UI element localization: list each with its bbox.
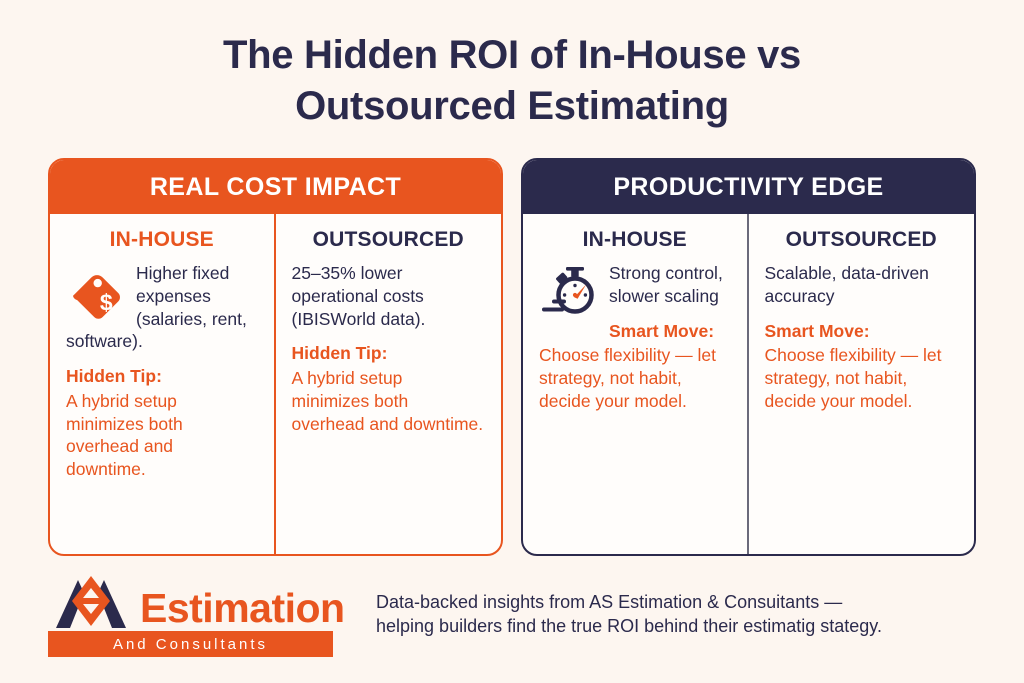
footer-tagline-line-2: helping builders find the true ROI behin…: [376, 614, 976, 638]
logo-subtitle: And Consultants: [113, 636, 268, 653]
footer-tagline-line-1: Data-backed insights from AS Estimation …: [376, 590, 976, 614]
page-title-line-2: Outsourced Estimating: [0, 81, 1024, 132]
logo-top-row: Estimation: [48, 574, 348, 628]
tip-body-in-house-cost: A hybrid setup minimizes both overhead a…: [66, 390, 258, 481]
tip-body-outsourced-cost: A hybrid setup minimizes both overhead a…: [292, 367, 486, 435]
column-in-house-cost: IN-HOUSE $ Higher fixed expenses (salari…: [50, 214, 276, 554]
column-title-outsourced-productivity: OUTSOURCED: [765, 228, 959, 252]
tip-body-outsourced-productivity: Choose flexibility — let strategy, not h…: [765, 344, 959, 412]
column-in-house-productivity: IN-HOUSE Strong control, slower scaling …: [523, 214, 749, 554]
tip-label-in-house-cost: Hidden Tip:: [66, 366, 258, 388]
card-header-real-cost-impact: REAL COST IMPACT: [50, 160, 501, 214]
column-title-in-house: IN-HOUSE: [66, 228, 258, 252]
logo-wordmark: Estimation: [140, 589, 345, 628]
comparison-cards: REAL COST IMPACT IN-HOUSE $ Higher fixed…: [48, 158, 976, 556]
column-body-outsourced-productivity: Scalable, data-driven accuracy: [765, 262, 959, 308]
tip-body-in-house-productivity: Choose flexibility — let strategy, not h…: [539, 344, 731, 412]
price-tag-icon: $: [66, 262, 128, 324]
footer-tagline: Data-backed insights from AS Estimation …: [348, 572, 976, 639]
column-body-outsourced: 25–35% lower operational costs (IBISWorl…: [292, 262, 486, 330]
tip-label-outsourced-productivity: Smart Move:: [765, 321, 959, 343]
svg-text:$: $: [100, 290, 113, 316]
column-outsourced-productivity: OUTSOURCED Scalable, data-driven accurac…: [749, 214, 975, 554]
logo-subtitle-bar: And Consultants: [48, 631, 333, 657]
stopwatch-icon: [539, 262, 601, 324]
footer: Estimation And Consultants Data-backed i…: [48, 572, 976, 662]
card-header-productivity-edge: PRODUCTIVITY EDGE: [523, 160, 974, 214]
card-body-real-cost-impact: IN-HOUSE $ Higher fixed expenses (salari…: [50, 214, 501, 554]
column-title-in-house-productivity: IN-HOUSE: [539, 228, 731, 252]
tip-label-outsourced-cost: Hidden Tip:: [292, 343, 486, 365]
card-body-productivity-edge: IN-HOUSE Strong control, slower scaling …: [523, 214, 974, 554]
brand-logo: Estimation And Consultants: [48, 572, 348, 657]
card-productivity-edge: PRODUCTIVITY EDGE IN-HOUSE Str: [521, 158, 976, 556]
column-title-outsourced: OUTSOURCED: [292, 228, 486, 252]
card-real-cost-impact: REAL COST IMPACT IN-HOUSE $ Higher fixed…: [48, 158, 503, 556]
column-outsourced-cost: OUTSOURCED 25–35% lower operational cost…: [276, 214, 502, 554]
page-title-line-1: The Hidden ROI of In-House vs: [0, 30, 1024, 81]
triangle-diamond-logo-icon: [48, 574, 134, 628]
page-title: The Hidden ROI of In-House vs Outsourced…: [0, 30, 1024, 132]
